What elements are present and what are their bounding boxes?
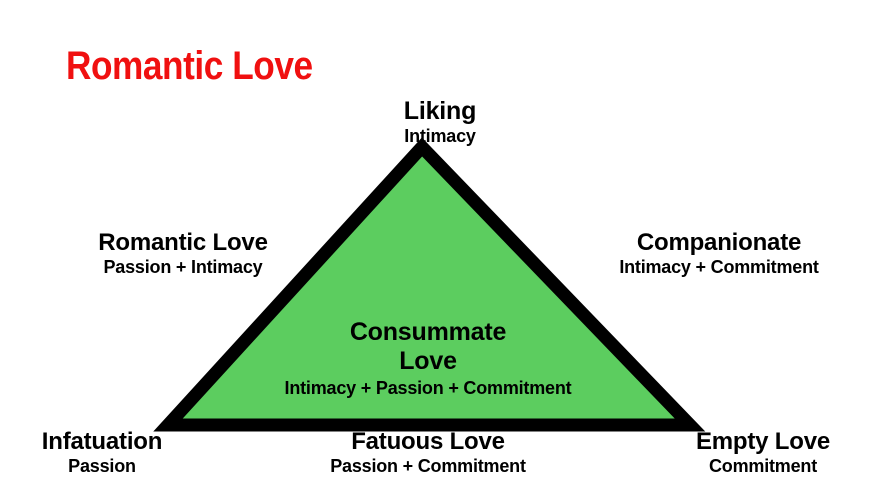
side-label-romantic-love: Romantic Love Passion + Intimacy xyxy=(53,230,313,278)
vertex-top-secondary: Intimacy xyxy=(0,125,880,147)
vertex-bottom-right-primary: Empty Love xyxy=(652,428,874,455)
triangular-theory-of-love-diagram: Romantic Love Liking Intimacy Romantic L… xyxy=(0,0,880,495)
side-right-primary: Companionate xyxy=(573,230,865,256)
vertex-bottom-right-secondary: Commitment xyxy=(652,455,874,478)
side-bottom-secondary: Passion + Commitment xyxy=(268,455,588,478)
side-label-companionate: Companionate Intimacy + Commitment xyxy=(573,230,865,278)
vertex-bottom-left-primary: Infatuation xyxy=(4,428,200,455)
vertex-label-infatuation: Infatuation Passion xyxy=(4,428,200,478)
side-left-primary: Romantic Love xyxy=(53,230,313,256)
vertex-label-empty-love: Empty Love Commitment xyxy=(652,428,874,478)
vertex-top-primary: Liking xyxy=(0,98,880,125)
side-label-fatuous-love: Fatuous Love Passion + Commitment xyxy=(268,428,588,478)
center-secondary: Intimacy + Passion + Commitment xyxy=(228,376,628,400)
center-primary-line2: Love xyxy=(228,347,628,376)
vertex-label-liking: Liking Intimacy xyxy=(0,98,880,147)
side-left-secondary: Passion + Intimacy xyxy=(53,256,313,278)
vertex-bottom-left-secondary: Passion xyxy=(4,455,200,478)
center-primary-line1: Consummate xyxy=(228,318,628,347)
side-right-secondary: Intimacy + Commitment xyxy=(573,256,865,278)
side-bottom-primary: Fatuous Love xyxy=(268,428,588,455)
center-label-consummate-love: Consummate Love Intimacy + Passion + Com… xyxy=(228,318,628,400)
